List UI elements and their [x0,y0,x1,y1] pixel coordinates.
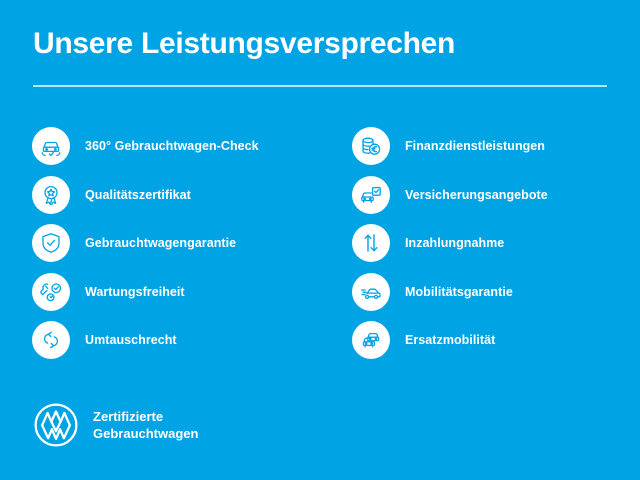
promise-item-gebrauchtwagengarantie[interactable]: Gebrauchtwagengarantie [32,219,320,268]
up-down-arrows-icon [352,224,390,262]
footer-line-2: Gebrauchtwagen [93,425,198,442]
award-ribbon-icon [32,176,70,214]
wrench-check-icon [32,273,70,311]
car-document-icon [352,176,390,214]
shield-check-icon [32,224,70,262]
promise-item-mobilitaetsgarantie[interactable]: Mobilitätsgarantie [352,268,640,317]
exchange-arrows-icon [32,321,70,359]
promise-item-inzahlungnahme[interactable]: Inzahlungnahme [352,219,640,268]
promise-label: Qualitätszertifikat [85,188,191,202]
promise-label: Gebrauchtwagengarantie [85,236,236,250]
footer-line-1: Zertifizierte [93,408,198,425]
header: Unsere Leistungsversprechen [33,26,607,62]
promise-label: Umtauschrecht [85,333,177,347]
promises-column-left: 360° Gebrauchtwagen-Check Qualitätszerti… [0,122,320,365]
promise-item-qualitaetszertifikat[interactable]: Qualitätszertifikat [32,171,320,220]
promise-item-gebrauchtwagen-check[interactable]: 360° Gebrauchtwagen-Check [32,122,320,171]
header-divider [33,85,607,87]
promise-label: 360° Gebrauchtwagen-Check [85,139,259,153]
car-inspection-icon [32,127,70,165]
footer-text: Zertifizierte Gebrauchtwagen [93,408,198,442]
promises-columns: 360° Gebrauchtwagen-Check Qualitätszerti… [0,122,640,365]
footer-logo-lockup: Zertifizierte Gebrauchtwagen [33,402,198,448]
promise-item-umtauschrecht[interactable]: Umtauschrecht [32,316,320,365]
coins-euro-icon [352,127,390,165]
promises-column-right: Finanzdienstleistungen Versicheru [320,122,640,365]
promise-item-versicherungsangebote[interactable]: Versicherungsangebote [352,171,640,220]
promise-label: Mobilitätsgarantie [405,285,513,299]
promise-label: Wartungsfreiheit [85,285,185,299]
promise-label: Versicherungsangebote [405,188,548,202]
promises-poster: Unsere Leistungsversprechen 360° [0,0,640,480]
promise-label: Inzahlungnahme [405,236,504,250]
page-title: Unsere Leistungsversprechen [33,26,607,62]
promise-item-ersatzmobilitaet[interactable]: Ersatzmobilität [352,316,640,365]
volkswagen-logo-icon [33,402,79,448]
promise-label: Ersatzmobilität [405,333,495,347]
two-cars-icon [352,321,390,359]
car-motion-icon [352,273,390,311]
promise-item-wartungsfreiheit[interactable]: Wartungsfreiheit [32,268,320,317]
promise-item-finanzdienstleistungen[interactable]: Finanzdienstleistungen [352,122,640,171]
promise-label: Finanzdienstleistungen [405,139,545,153]
